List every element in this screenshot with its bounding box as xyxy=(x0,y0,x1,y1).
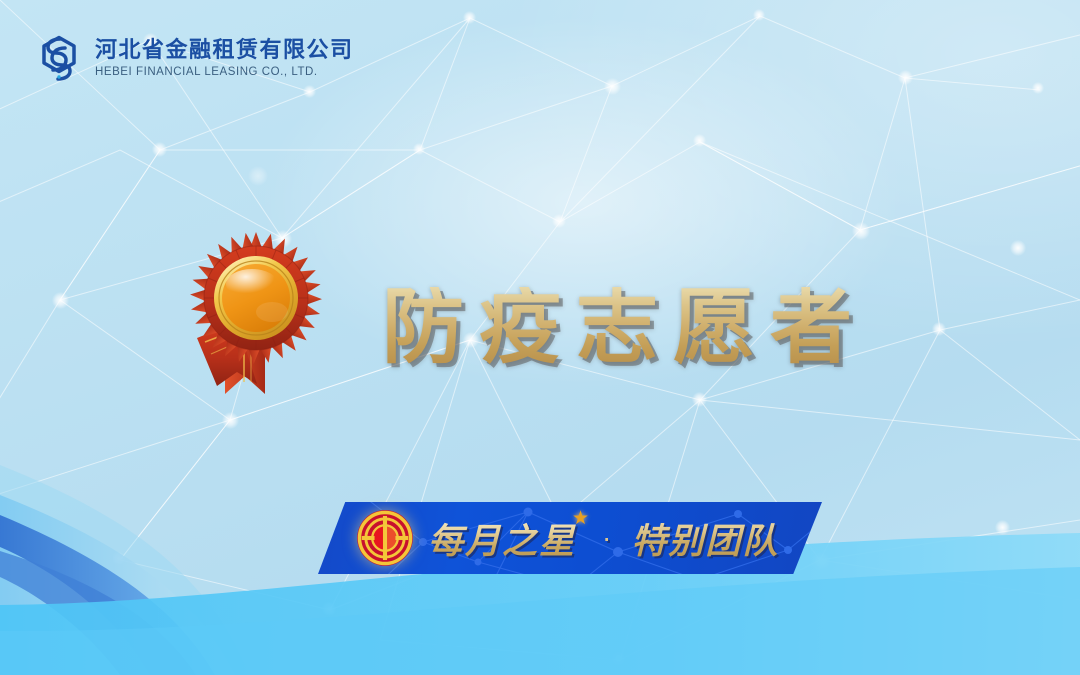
banner-content: 每月之星 ★ · 特别团队 xyxy=(318,502,822,574)
slide-canvas: 河北省金融租赁有限公司 HEBEI FINANCIAL LEASING CO.,… xyxy=(0,0,1080,675)
brand-header: 河北省金融租赁有限公司 HEBEI FINANCIAL LEASING CO.,… xyxy=(34,33,354,85)
trade-union-emblem-icon xyxy=(356,509,414,567)
star-icon: ★ xyxy=(572,509,589,528)
brand-text: 河北省金融租赁有限公司 HEBEI FINANCIAL LEASING CO.,… xyxy=(95,39,354,79)
award-rosette-icon xyxy=(181,226,331,402)
banner-label-left-wrap: 每月之星 ★ xyxy=(428,513,576,564)
brand-name-cn: 河北省金融租赁有限公司 xyxy=(95,39,354,62)
page-title: 防疫志愿者 xyxy=(382,287,867,369)
banner-text: 每月之星 ★ · 特别团队 xyxy=(428,513,779,564)
banner-label-right: 特别团队 xyxy=(631,513,779,564)
hexagon-knot-logo-icon xyxy=(34,33,84,85)
banner-separator: · xyxy=(602,524,611,552)
banner-label-left: 每月之星 xyxy=(428,522,576,562)
brand-name-en: HEBEI FINANCIAL LEASING CO., LTD. xyxy=(95,65,354,79)
award-banner: 每月之星 ★ · 特别团队 xyxy=(318,502,822,574)
